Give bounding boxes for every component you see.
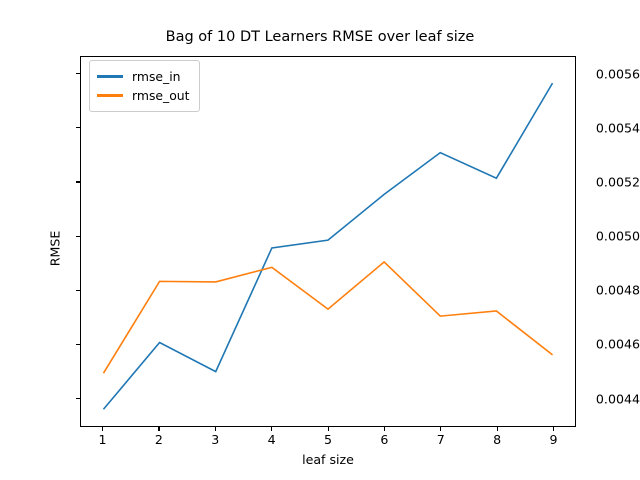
x-tick-label: 1 [83, 432, 123, 447]
x-tick-label: 7 [421, 432, 461, 447]
legend-label: rmse_in [132, 69, 181, 84]
x-tick-label: 8 [477, 432, 517, 447]
legend-item-rmse_in: rmse_in [97, 67, 190, 86]
y-tick-label: 0.0056 [574, 66, 640, 81]
series-line-rmse_out [103, 262, 552, 373]
chart-figure: Bag of 10 DT Learners RMSE over leaf siz… [0, 0, 640, 480]
x-tick-label: 6 [364, 432, 404, 447]
x-tick-mark [328, 427, 329, 431]
y-tick-label: 0.0044 [574, 391, 640, 406]
x-tick-label: 5 [308, 432, 348, 447]
x-tick-mark [384, 427, 385, 431]
legend-swatch-rmse_in [97, 75, 123, 77]
y-tick-label: 0.0046 [574, 337, 640, 352]
x-axis-label: leaf size [80, 452, 576, 467]
y-tick-label: 0.0050 [574, 229, 640, 244]
y-tick-label: 0.0052 [574, 174, 640, 189]
legend-item-rmse_out: rmse_out [97, 86, 190, 105]
x-tick-mark [440, 427, 441, 431]
x-tick-label: 3 [195, 432, 235, 447]
chart-legend: rmse_inrmse_out [89, 60, 200, 112]
y-axis-label: RMSE [48, 189, 63, 309]
x-tick-mark [553, 427, 554, 431]
x-tick-label: 4 [252, 432, 292, 447]
x-tick-label: 2 [139, 432, 179, 447]
chart-title: Bag of 10 DT Learners RMSE over leaf siz… [0, 29, 640, 45]
y-tick-label: 0.0054 [574, 120, 640, 135]
x-tick-mark [102, 427, 103, 431]
legend-label: rmse_out [132, 88, 190, 103]
x-tick-mark [497, 427, 498, 431]
x-tick-mark [271, 427, 272, 431]
x-tick-mark [158, 427, 159, 431]
x-tick-mark [215, 427, 216, 431]
plot-lines [81, 57, 575, 426]
series-line-rmse_in [103, 83, 552, 409]
legend-swatch-rmse_out [97, 94, 123, 96]
y-tick-label: 0.0048 [574, 283, 640, 298]
x-tick-label: 9 [533, 432, 573, 447]
